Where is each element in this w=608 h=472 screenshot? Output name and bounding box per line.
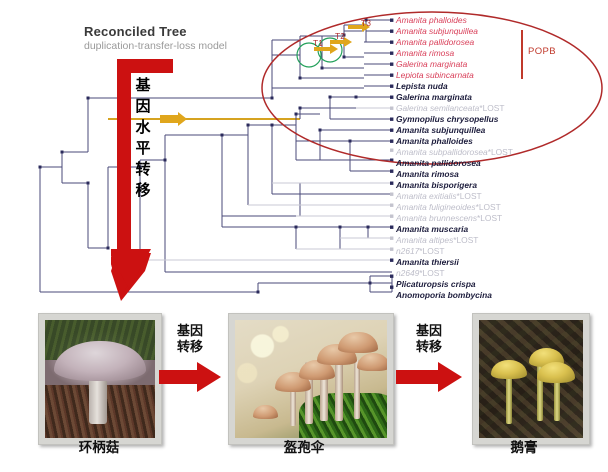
tree-leaf-label: Amanita subpallidorosea*LOST [396,148,513,157]
tree-leaf-name: n2617 [396,246,419,256]
tree-leaf-name: Amanita muscaria [396,224,468,234]
tree-leaf-label: Amanita phalloides [396,137,473,146]
photo3-stem-a [506,377,512,424]
tree-leaf-name: n2649 [396,268,419,278]
photo-galerina-image [235,320,387,438]
tree-leaf-name: Amanita fuligineoides [396,202,476,212]
gene-transfer-label-2-line1: 基因 [392,324,466,340]
tree-leaf-lost-tag: *LOST [419,268,444,278]
tree-leaf-name: Lepista nuda [396,81,448,91]
tree-leaf-name: Anomoporia bombycina [396,290,492,300]
tree-leaf-name: Galerina marginata [396,92,472,102]
tree-leaf-name: Plicaturopsis crispa [396,279,476,289]
tree-leaf-lost-tag: *LOST [477,213,502,223]
tree-leaf-name: Amanita pallidorosea [396,158,481,168]
tree-leaf-label: Lepiota subincarnata [396,71,474,80]
transfer-label-t2: T2 [335,31,345,41]
tree-leaf-label: n2617*LOST [396,247,444,256]
tree-leaf-label: Amanita fuligineoides*LOST [396,203,501,212]
tree-leaf-lost-tag: *LOST [476,202,501,212]
tree-leaf-label: Anomoporia bombycina [396,291,492,300]
tree-leaf-name: Amanita subpallidorosea [396,147,488,157]
photo2-cap-f [253,405,277,419]
tree-leaf-label: Amanita bisporigera [396,181,477,190]
tree-leaf-label: Lepista nuda [396,82,448,91]
tree-leaf-label: Galerina semilanceata*LOST [396,104,504,113]
photo3-cap-a [491,360,526,379]
photo-amanita-image [479,320,583,438]
tree-leaf-lost-tag: *LOST [453,235,478,245]
photo-caption-lepiota: 环柄菇 [38,436,160,456]
tree-leaf-name: Amanita subjunquillea [396,26,478,36]
tree-leaf-lost-tag: *LOST [457,191,482,201]
popb-bracket [521,30,523,79]
red-arrow-icon-1 [157,360,223,394]
gene-transfer-label-2-line2: 转移 [392,340,466,356]
tree-leaf-name: Amanita bisporigera [396,180,477,190]
tree-leaf-name: Amanita exitialis [396,191,457,201]
photo-lepiota-image [45,320,155,438]
red-arrow-icon-2 [394,360,464,394]
photo-caption-galerina: 盔孢伞 [228,436,380,456]
photo1-stem [89,377,107,424]
tree-leaf-label: Amanita pallidorosea [396,38,474,47]
gene-transfer-arrow-1: 基因 转移 [156,324,224,399]
tree-leaf-label: Amanita altipes*LOST [396,236,478,245]
popb-label: POPB [528,46,556,57]
tree-leaf-name: Amanita rimosa [396,169,459,179]
photo3-cap-c [537,362,574,382]
tree-leaf-label: Amanita muscaria [396,225,468,234]
photo-frame-galerina [228,313,394,445]
photo-caption-amanita: 鹅膏 [472,436,576,456]
tree-leaf-name: Galerina semilanceata [396,103,479,113]
transfer-label-t1: T1 [313,38,323,48]
gene-transfer-label-1-line1: 基因 [156,324,224,340]
tree-leaf-name: Galerina marginata [396,59,467,69]
tree-leaf-label: Amanita brunnescens*LOST [396,214,502,223]
tree-leaf-label: Galerina marginata [396,93,472,102]
hgt-vertical-text: 基 因 水 平 转 移 [133,75,153,201]
tree-leaf-name: Amanita thiersii [396,257,459,267]
gene-transfer-label-1-line2: 转移 [156,340,224,356]
tree-leaf-label: n2649*LOST [396,269,444,278]
tree-leaf-label: Amanita subjunquillea [396,126,485,135]
tree-leaf-label: Amanita exitialis*LOST [396,192,482,201]
tree-leaf-name: Lepiota subincarnata [396,70,474,80]
tree-leaf-name: Amanita phalloides [396,136,473,146]
tree-leaf-label: Amanita pallidorosea [396,159,481,168]
tree-leaf-label: Amanita rimosa [396,49,454,58]
photo-frame-amanita [472,313,590,445]
gene-transfer-arrow-2: 基因 转移 [392,324,466,399]
transfer-label-t3: T3 [361,18,371,28]
tree-leaf-label: Amanita phalloides [396,16,467,25]
photo-frame-lepiota [38,313,162,445]
tree-leaf-label: Plicaturopsis crispa [396,280,476,289]
tree-leaf-label: Gymnopilus chrysopellus [396,115,498,124]
figure-canvas: Reconciled Tree duplication-transfer-los… [0,0,608,472]
tree-leaf-name: Amanita pallidorosea [396,37,474,47]
tree-leaf-name: Amanita altipes [396,235,453,245]
phylogenetic-tree [0,0,608,310]
tree-leaf-label: Galerina marginata [396,60,467,69]
tree-leaf-name: Gymnopilus chrysopellus [396,114,498,124]
tree-leaf-name: Amanita phalloides [396,15,467,25]
tree-leaf-label: Amanita thiersii [396,258,459,267]
tree-leaf-lost-tag: *LOST [419,246,444,256]
tree-leaf-name: Amanita rimosa [396,48,454,58]
tree-leaf-label: Amanita rimosa [396,170,459,179]
tree-leaf-name: Amanita subjunquillea [396,125,485,135]
tree-leaf-label: Amanita subjunquillea [396,27,478,36]
tree-leaf-lost-tag: *LOST [479,103,504,113]
tree-leaf-lost-tag: *LOST [488,147,513,157]
tree-leaf-name: Amanita brunnescens [396,213,477,223]
